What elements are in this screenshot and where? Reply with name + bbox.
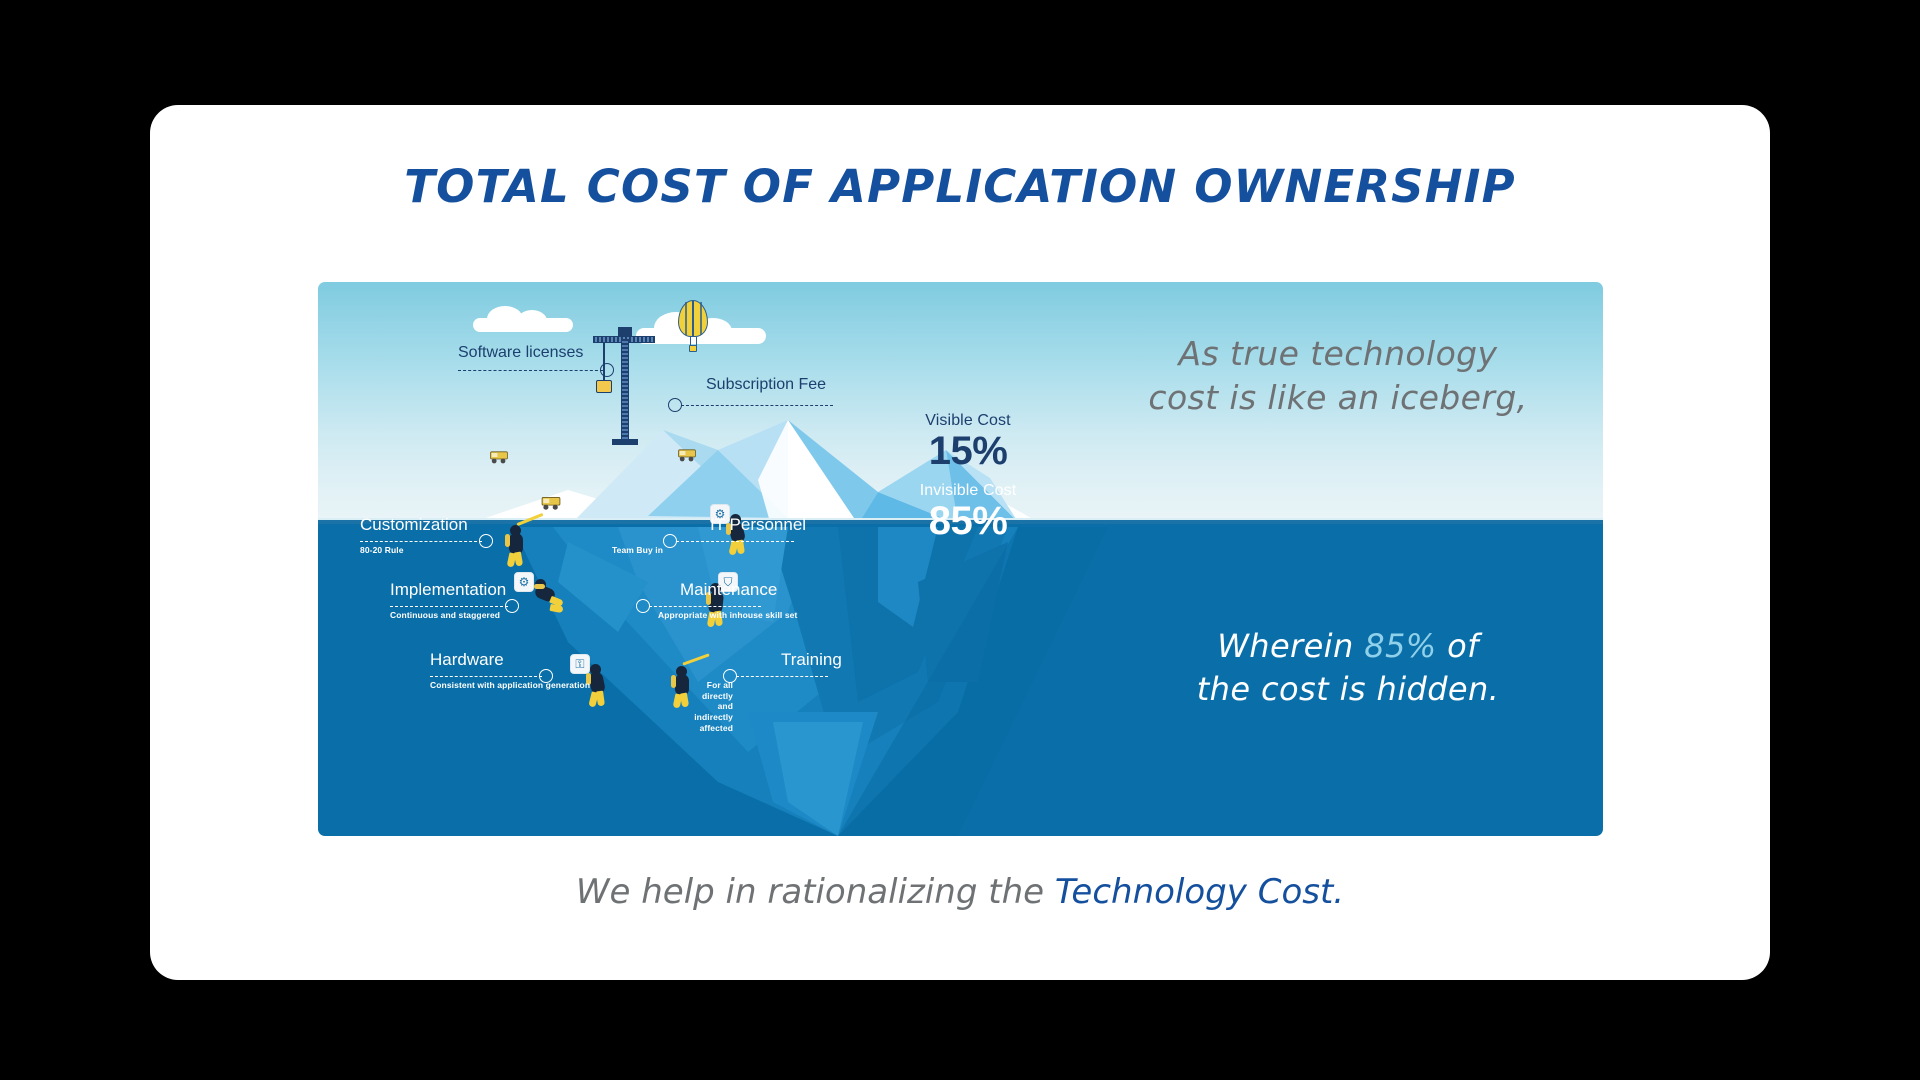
label-title: Customization bbox=[360, 515, 468, 535]
page-root: TOTAL COST OF APPLICATION OWNERSHIP bbox=[0, 0, 1920, 1080]
quote-bottom-highlight: 85% bbox=[1364, 627, 1436, 665]
label-subtitle: Continuous and staggered bbox=[390, 610, 500, 620]
label-title: Software licenses bbox=[458, 344, 583, 362]
connector-knob bbox=[636, 599, 650, 613]
lock-icon: ⚿ bbox=[570, 654, 590, 674]
quote-top: As true technology cost is like an icebe… bbox=[1088, 332, 1588, 420]
quote-bottom-prefix: Wherein bbox=[1217, 627, 1364, 665]
truck-icon bbox=[542, 497, 561, 509]
label-subtitle: Team Buy in bbox=[612, 545, 663, 555]
stat-value: 15% bbox=[888, 430, 1048, 472]
label-title: Subscription Fee bbox=[706, 376, 826, 394]
connector-knob bbox=[668, 398, 682, 412]
label-title: Implementation bbox=[390, 580, 506, 600]
stat-invisible-cost: Invisible Cost 85% bbox=[888, 482, 1048, 542]
label-customization[interactable]: Customization 80-20 Rule bbox=[360, 515, 468, 535]
construction-crane-icon bbox=[590, 327, 660, 447]
footer-tagline: We help in rationalizing the Technology … bbox=[150, 872, 1770, 912]
gear-icon: ⚙ bbox=[514, 572, 534, 592]
label-subtitle: Consistent with application generation bbox=[430, 680, 590, 690]
connector-knob bbox=[505, 599, 519, 613]
label-implementation[interactable]: Implementation Continuous and staggered bbox=[390, 580, 506, 600]
scuba-diver-icon bbox=[500, 514, 556, 562]
connector-knob bbox=[600, 363, 614, 377]
label-subtitle: For all directly and indirectly affected bbox=[694, 680, 733, 733]
label-title: Hardware bbox=[430, 650, 504, 670]
iceberg-illustration: ⚙ ⚙ ⛉ bbox=[318, 282, 1603, 836]
infographic-card: TOTAL COST OF APPLICATION OWNERSHIP bbox=[150, 105, 1770, 980]
quote-bottom: Wherein 85% of the cost is hidden. bbox=[1108, 582, 1588, 711]
truck-icon bbox=[490, 451, 508, 462]
footer-prefix: We help in rationalizing the bbox=[576, 872, 1055, 912]
stat-caption: Invisible Cost bbox=[888, 482, 1048, 500]
stat-value: 85% bbox=[888, 500, 1048, 542]
stat-visible-cost: Visible Cost 15% bbox=[888, 412, 1048, 472]
label-software-licenses[interactable]: Software licenses bbox=[458, 344, 583, 362]
label-hardware[interactable]: Hardware Consistent with application gen… bbox=[430, 650, 504, 670]
label-subtitle: 80-20 Rule bbox=[360, 545, 404, 555]
footer-highlight: Technology Cost. bbox=[1055, 872, 1344, 912]
label-title: IT Personnel bbox=[710, 515, 806, 535]
label-subtitle: Appropriate with inhouse skill set bbox=[658, 610, 797, 620]
page-title: TOTAL COST OF APPLICATION OWNERSHIP bbox=[150, 160, 1770, 213]
label-title: Maintenance bbox=[680, 580, 777, 600]
scuba-diver-icon: ⚙ bbox=[514, 572, 570, 620]
truck-icon bbox=[678, 449, 696, 460]
stat-caption: Visible Cost bbox=[888, 412, 1048, 430]
label-title: Training bbox=[781, 650, 842, 670]
scuba-diver-icon: ⚿ bbox=[570, 654, 626, 702]
connector-knob bbox=[479, 534, 493, 548]
connector-knob bbox=[663, 534, 677, 548]
